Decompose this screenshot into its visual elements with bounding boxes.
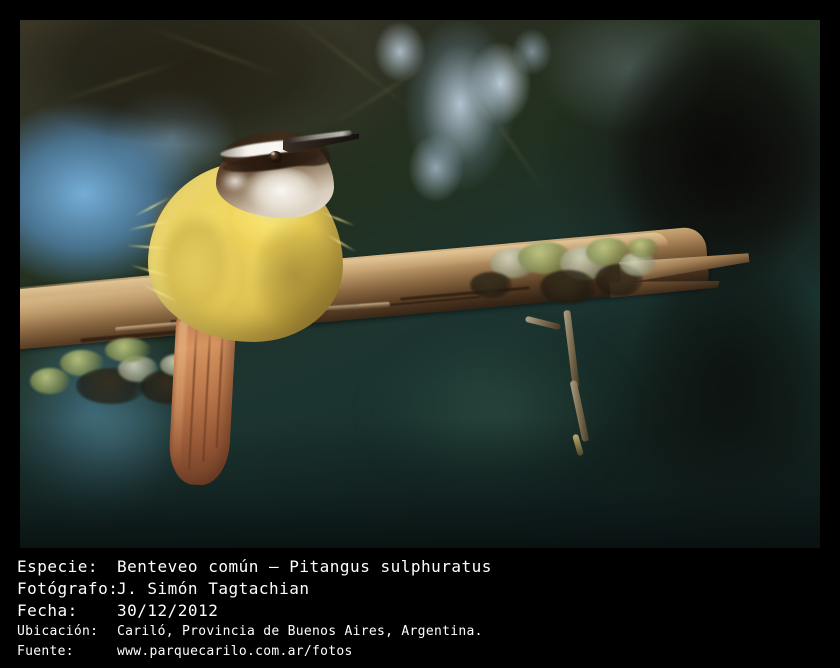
- bird-throat: [242, 168, 320, 224]
- caption-block: Especie:Benteveo común — Pitangus sulphu…: [0, 548, 840, 668]
- caption-row-fuente: Fuente:www.parquecarilo.com.ar/fotos: [17, 644, 353, 660]
- caption-row-ubicacion: Ubicación:Cariló, Provincia de Buenos Ai…: [17, 624, 483, 640]
- value-fuente: www.parquecarilo.com.ar/fotos: [117, 644, 353, 660]
- value-fotografo: J. Simón Tagtachian: [117, 579, 310, 598]
- caption-row-especie: Especie:Benteveo común — Pitangus sulphu…: [17, 557, 492, 576]
- bird-great-kiskadee: [20, 20, 820, 548]
- value-ubicacion: Cariló, Provincia de Buenos Aires, Argen…: [117, 624, 483, 640]
- label-especie: Especie:: [17, 557, 117, 576]
- value-especie: Benteveo común — Pitangus sulphuratus: [117, 557, 492, 576]
- caption-row-fecha: Fecha:30/12/2012: [17, 601, 218, 620]
- caption-row-fotografo: Fotógrafo:J. Simón Tagtachian: [17, 579, 310, 598]
- label-ubicacion: Ubicación:: [17, 624, 117, 640]
- bird-flank-fluff: [140, 200, 230, 330]
- photograph: [20, 20, 820, 548]
- label-fotografo: Fotógrafo:: [17, 579, 117, 598]
- value-fecha: 30/12/2012: [117, 601, 218, 620]
- label-fuente: Fuente:: [17, 644, 117, 660]
- label-fecha: Fecha:: [17, 601, 117, 620]
- bird-eye-glint: [271, 152, 275, 155]
- photo-canvas: [20, 20, 820, 548]
